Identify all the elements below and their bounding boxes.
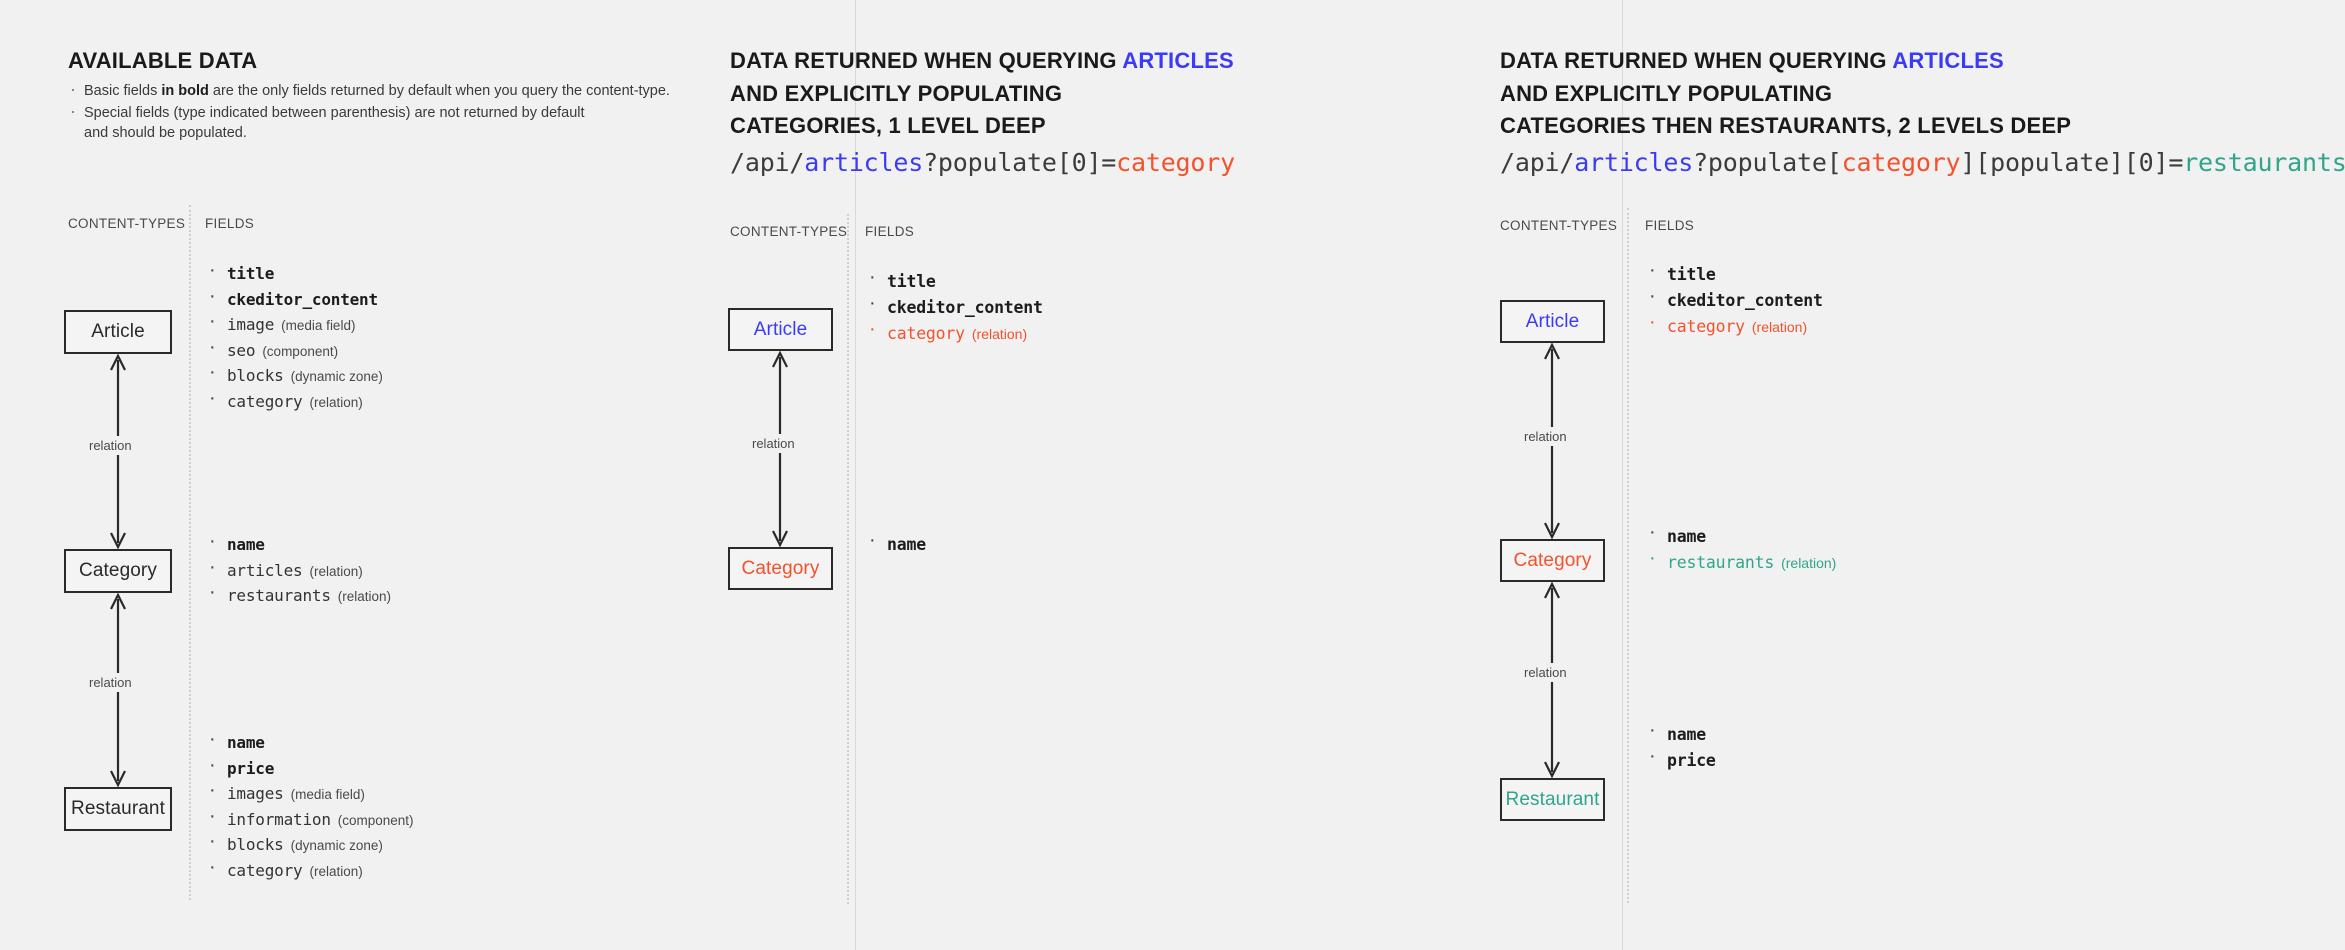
entity-box-category[interactable]: Category (64, 549, 172, 593)
entity-label: Article (1526, 311, 1580, 333)
field-item: name (205, 533, 391, 559)
panel-2-inner-divider (847, 214, 849, 904)
field-group-article: title ckeditor_content category(relation… (865, 269, 1043, 347)
relation-label: relation (747, 434, 800, 453)
field-item: name (1645, 524, 1836, 550)
field-item: category(relation) (1645, 314, 1823, 340)
field-type: (relation) (309, 864, 362, 879)
panel-2-heading: DATA RETURNED WHEN QUERYING ARTICLES AND… (730, 45, 1234, 143)
field-item: ckeditor_content (205, 288, 383, 314)
field-type: (dynamic zone) (291, 369, 383, 384)
heading-line: CATEGORIES, 1 LEVEL DEEP (730, 110, 1234, 143)
panel-1-fields-label: FIELDS (205, 216, 254, 231)
field-name: title (887, 272, 936, 291)
entity-box-article[interactable]: Article (64, 310, 172, 354)
entity-box-restaurant[interactable]: Restaurant (64, 787, 172, 831)
field-item: title (205, 262, 383, 288)
field-name: restaurants (227, 586, 331, 605)
field-item: restaurants(relation) (205, 584, 391, 610)
field-name: name (1667, 527, 1706, 546)
field-item: ckeditor_content (1645, 288, 1823, 314)
field-group-restaurant: name price images(media field) informati… (205, 731, 414, 884)
panel-1-heading: AVAILABLE DATA (68, 45, 257, 78)
field-item: images(media field) (205, 782, 414, 808)
field-name: articles (227, 561, 302, 580)
field-name: images (227, 784, 284, 803)
entity-label: Article (91, 321, 145, 343)
field-name: name (1667, 725, 1706, 744)
field-item: blocks(dynamic zone) (205, 364, 383, 390)
panel-1-description: Basic fields in bold are the only fields… (68, 81, 708, 145)
panel-3-heading: DATA RETURNED WHEN QUERYING ARTICLES AND… (1500, 45, 2071, 143)
field-group-category: name restaurants(relation) (1645, 524, 1836, 576)
field-item: image(media field) (205, 313, 383, 339)
field-item: blocks(dynamic zone) (205, 833, 414, 859)
panel-2-fields-label: FIELDS (865, 224, 914, 239)
field-name: seo (227, 341, 255, 360)
field-item: name (865, 532, 926, 558)
field-name: ckeditor_content (887, 298, 1043, 317)
field-type: (relation) (1781, 555, 1836, 571)
field-type: (relation) (1752, 319, 1807, 335)
heading-line: DATA RETURNED WHEN QUERYING ARTICLES (1500, 45, 2071, 78)
panel-1-content-types-label: CONTENT-TYPES (68, 216, 185, 231)
field-type: (relation) (309, 564, 362, 579)
field-item: category(relation) (205, 390, 383, 416)
field-name: ckeditor_content (1667, 291, 1823, 310)
panel-3-inner-divider (1627, 208, 1629, 903)
field-item: seo(component) (205, 339, 383, 365)
field-item: ckeditor_content (865, 295, 1043, 321)
field-name: name (227, 535, 265, 554)
field-name: category (227, 861, 302, 880)
field-group-article: title ckeditor_content category(relation… (1645, 262, 1823, 340)
field-group-category: name articles(relation) restaurants(rela… (205, 533, 391, 610)
field-name: category (1667, 317, 1745, 336)
relation-label: relation (1519, 663, 1572, 682)
field-type: (dynamic zone) (291, 838, 383, 853)
field-name: restaurants (1667, 553, 1774, 572)
field-group-restaurant: name price (1645, 722, 1716, 774)
entity-label: Category (79, 560, 157, 582)
heading-line: AND EXPLICITLY POPULATING (1500, 78, 2071, 111)
panel-2-content-types-label: CONTENT-TYPES (730, 224, 847, 239)
field-name: price (1667, 751, 1716, 770)
field-name: title (1667, 265, 1716, 284)
field-item: articles(relation) (205, 559, 391, 585)
relation-label: relation (84, 436, 137, 455)
panel-populate-1-level: DATA RETURNED WHEN QUERYING ARTICLES AND… (725, 0, 1495, 950)
entity-label: Article (754, 319, 808, 341)
entity-label: Restaurant (1506, 789, 1600, 811)
relation-label: relation (1519, 427, 1572, 446)
panel-3-content-types-label: CONTENT-TYPES (1500, 218, 1617, 233)
field-name: category (887, 324, 965, 343)
field-item: title (865, 269, 1043, 295)
entity-label: Category (1514, 550, 1592, 572)
field-group-category: name (865, 532, 926, 558)
field-type: (relation) (338, 589, 391, 604)
panel-3-fields-label: FIELDS (1645, 218, 1694, 233)
field-name: price (227, 759, 274, 778)
relation-label: relation (84, 673, 137, 692)
field-name: blocks (227, 835, 284, 854)
entity-box-article[interactable]: Article (1500, 300, 1605, 343)
field-item: name (205, 731, 414, 757)
panel-2-api-url: /api/articles?populate[0]=category (730, 148, 1235, 177)
heading-highlight: ARTICLES (1122, 48, 1234, 73)
field-type: (component) (338, 813, 414, 828)
field-name: ckeditor_content (227, 290, 378, 309)
field-group-article: title ckeditor_content image(media field… (205, 262, 383, 415)
entity-box-article[interactable]: Article (728, 308, 833, 351)
field-type: (relation) (309, 395, 362, 410)
field-type: (media field) (281, 318, 355, 333)
heading-highlight: ARTICLES (1892, 48, 2004, 73)
entity-label: Restaurant (71, 798, 165, 820)
diagram-canvas: AVAILABLE DATA Basic fields in bold are … (0, 0, 2345, 950)
field-name: title (227, 264, 274, 283)
description-bullet: Basic fields in bold are the only fields… (68, 81, 708, 101)
field-item: price (205, 757, 414, 783)
heading-line: DATA RETURNED WHEN QUERYING ARTICLES (730, 45, 1234, 78)
field-name: blocks (227, 366, 284, 385)
field-name: category (227, 392, 302, 411)
field-item: price (1645, 748, 1716, 774)
entity-box-restaurant[interactable]: Restaurant (1500, 778, 1605, 821)
field-name: name (887, 535, 926, 554)
description-bullet: Special fields (type indicated between p… (68, 103, 708, 143)
field-item: information(component) (205, 808, 414, 834)
heading-line: CATEGORIES THEN RESTAURANTS, 2 LEVELS DE… (1500, 110, 2071, 143)
heading-line: AND EXPLICITLY POPULATING (730, 78, 1234, 111)
field-type: (media field) (291, 787, 365, 802)
field-type: (relation) (972, 326, 1027, 342)
heading-line: AVAILABLE DATA (68, 48, 257, 73)
entity-box-category[interactable]: Category (728, 547, 833, 590)
field-item: restaurants(relation) (1645, 550, 1836, 576)
field-item: category(relation) (205, 859, 414, 885)
field-name: image (227, 315, 274, 334)
field-name: name (227, 733, 265, 752)
panel-3-api-url: /api/articles?populate[category][populat… (1500, 148, 2345, 177)
field-item: title (1645, 262, 1823, 288)
field-item: category(relation) (865, 321, 1043, 347)
entity-box-category[interactable]: Category (1500, 539, 1605, 582)
panel-1-inner-divider (189, 205, 191, 900)
field-name: information (227, 810, 331, 829)
entity-label: Category (742, 558, 820, 580)
panel-populate-2-levels: DATA RETURNED WHEN QUERYING ARTICLES AND… (1490, 0, 2345, 950)
field-type: (component) (262, 344, 338, 359)
